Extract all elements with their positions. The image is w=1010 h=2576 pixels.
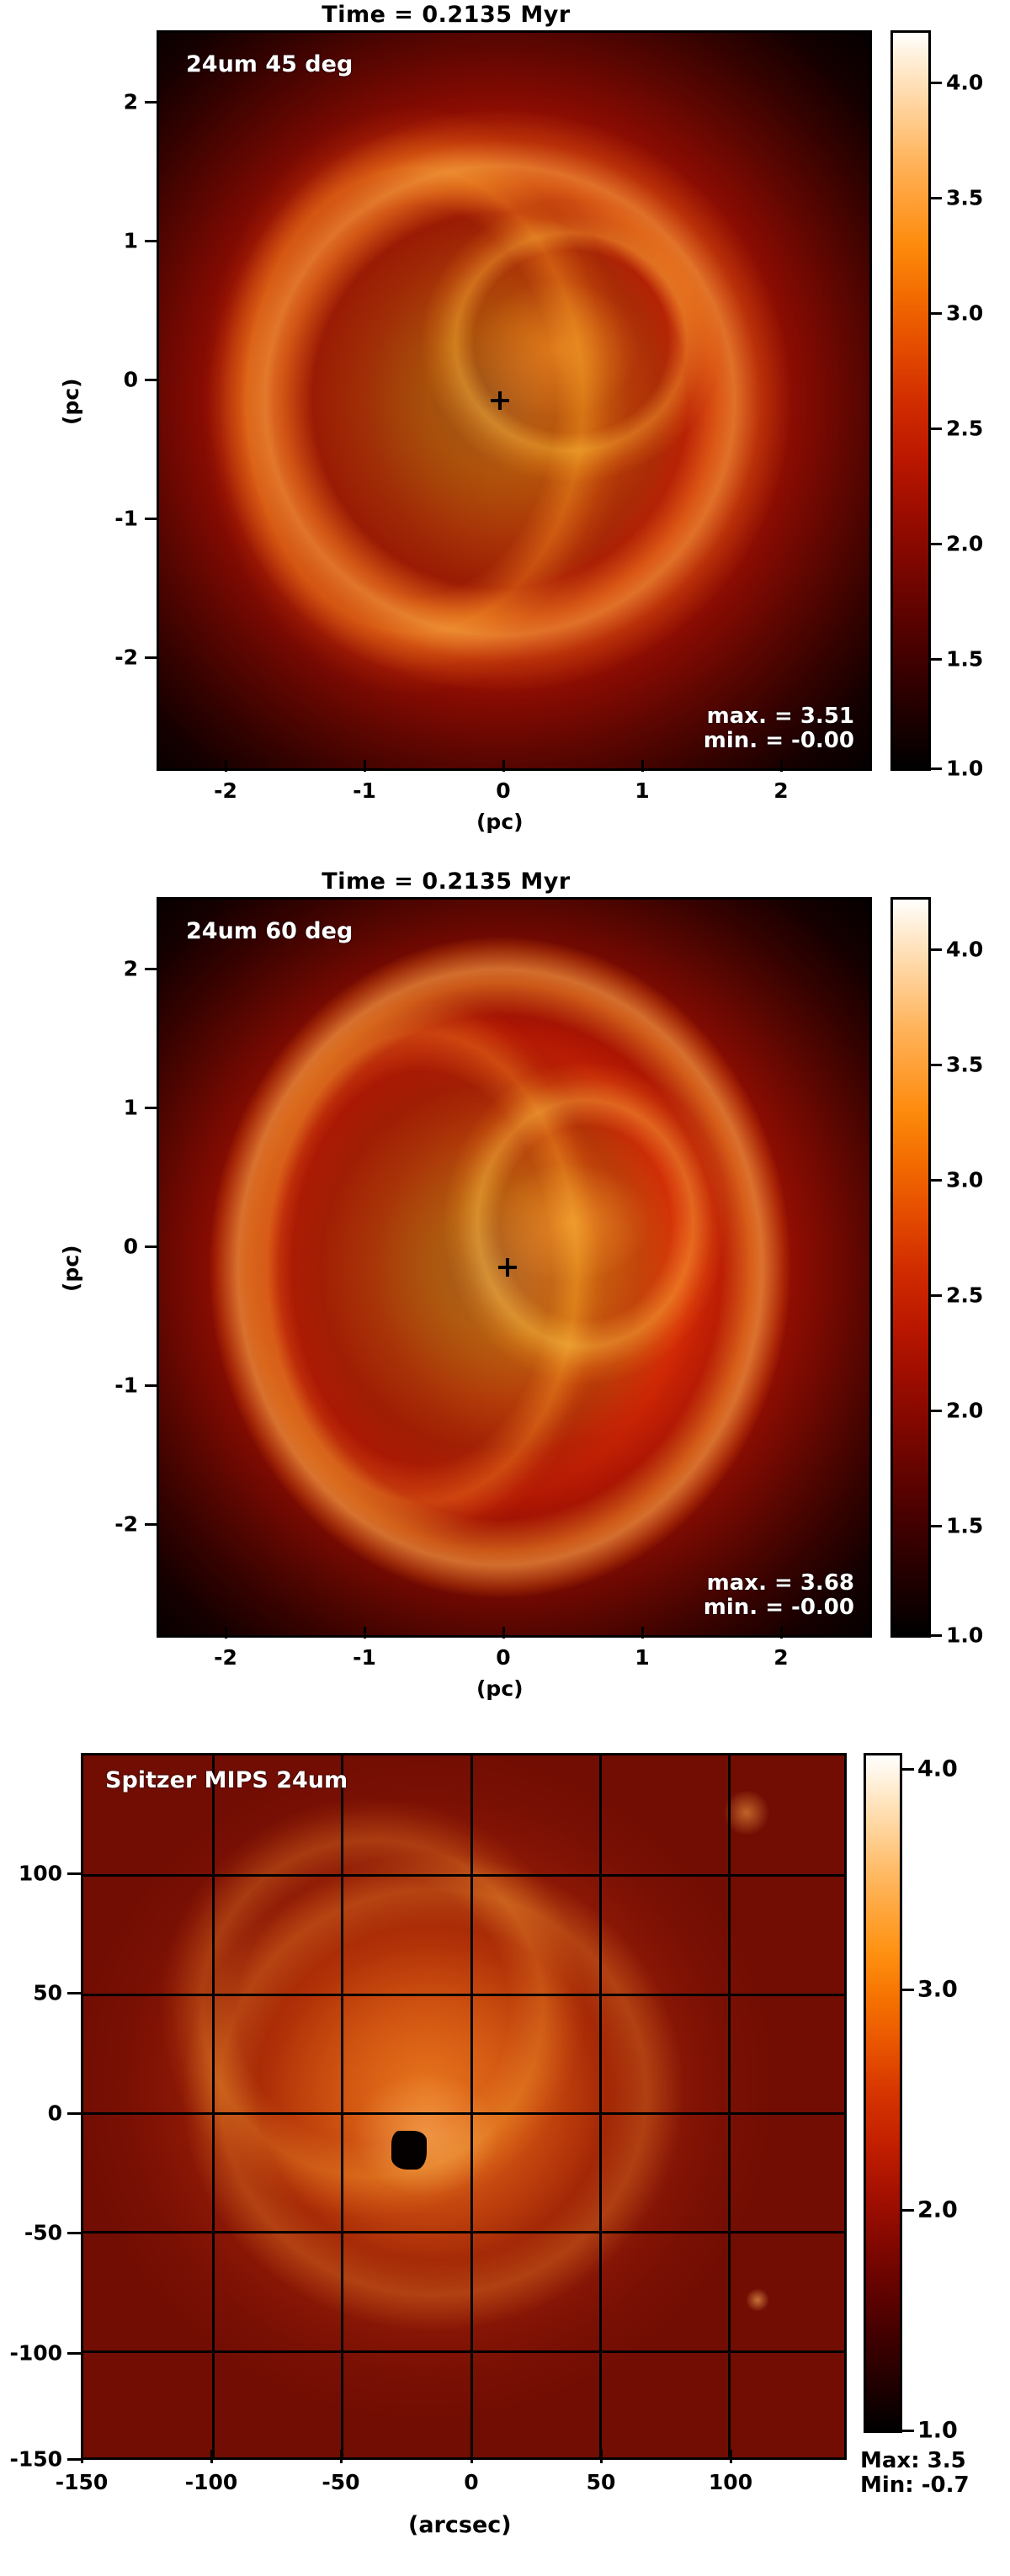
stat-max: Max: 3.5 bbox=[860, 2449, 970, 2473]
corner-label-45deg: 24um 45 deg bbox=[186, 51, 353, 77]
xtick-label: -1 bbox=[353, 1645, 376, 1670]
grid-line-horizontal bbox=[83, 1994, 844, 1996]
colorbar-45deg bbox=[890, 30, 931, 771]
xtick-label: 100 bbox=[709, 2470, 752, 2494]
xtick-label: 50 bbox=[587, 2470, 616, 2494]
xtick-label: -1 bbox=[353, 778, 376, 803]
cbar-tick-label: 2.0 bbox=[946, 1399, 983, 1423]
plus-marker bbox=[498, 1258, 517, 1277]
grid-line-horizontal bbox=[83, 1874, 844, 1877]
xaxis-title: (pc) bbox=[476, 810, 524, 834]
saturated-core bbox=[391, 2131, 427, 2170]
shell-arc-left bbox=[159, 33, 869, 768]
panel-45deg: Time = 0.2135 Myr 24um 45 deg max. = 3.5… bbox=[0, 0, 1010, 842]
ytick-label: 0 bbox=[99, 368, 138, 392]
colorbar-60deg bbox=[890, 897, 931, 1638]
corner-label-spitzer: Spitzer MIPS 24um bbox=[105, 1767, 348, 1793]
xtick-label: 2 bbox=[773, 778, 788, 803]
xtick-label: -2 bbox=[214, 1645, 237, 1670]
cbar-tick-label: 4.0 bbox=[946, 71, 983, 95]
ytick-label: -1 bbox=[99, 507, 138, 531]
cbar-tick-label: 3.5 bbox=[946, 186, 983, 210]
ytick-label: 2 bbox=[99, 90, 138, 114]
colorbar-gradient bbox=[893, 33, 928, 768]
ytick-label: 1 bbox=[99, 1096, 138, 1120]
yaxis-title: (pc) bbox=[59, 1245, 83, 1292]
cbar-tick-label: 3.5 bbox=[946, 1053, 983, 1077]
image-plot-spitzer: Spitzer MIPS 24um bbox=[81, 1753, 847, 2460]
stat-max: max. = 3.68 bbox=[704, 1571, 854, 1596]
cbar-tick-label: 2.5 bbox=[946, 417, 983, 441]
stat-max: max. = 3.51 bbox=[704, 704, 854, 729]
cbar-tick-label: 4.0 bbox=[946, 937, 983, 962]
ytick-label: -100 bbox=[0, 2341, 62, 2366]
colorbar-gradient bbox=[866, 1755, 900, 2430]
cbar-tick-label: 3.0 bbox=[917, 1977, 958, 2003]
xtick-label: -50 bbox=[322, 2470, 359, 2494]
corner-label-60deg: 24um 60 deg bbox=[186, 918, 353, 944]
grid-line-horizontal bbox=[83, 2350, 844, 2353]
stats-60deg: max. = 3.68 min. = -0.00 bbox=[704, 1571, 854, 1620]
panel-60deg: Time = 0.2135 Myr 24um 60 deg max. = 3.6… bbox=[0, 867, 1010, 1708]
figure-root: Time = 0.2135 Myr 24um 45 deg max. = 3.5… bbox=[0, 0, 1010, 2576]
cbar-tick-label: 1.5 bbox=[946, 1514, 983, 1538]
colorbar-gradient bbox=[893, 900, 928, 1635]
image-plot-60deg: 24um 60 deg max. = 3.68 min. = -0.00 bbox=[157, 897, 872, 1638]
stat-min: min. = -0.00 bbox=[704, 1596, 854, 1620]
colorbar-spitzer bbox=[864, 1753, 902, 2433]
xtick-label: 0 bbox=[496, 778, 510, 803]
panel-spitzer: Spitzer MIPS 24um -150 -100 -50 0 50 100… bbox=[0, 1729, 1010, 2576]
ytick-label: 0 bbox=[0, 2101, 62, 2126]
xtick-label: 2 bbox=[773, 1645, 788, 1670]
ytick-label: -2 bbox=[99, 645, 138, 670]
ytick-label: 2 bbox=[99, 957, 138, 981]
cbar-tick-label: 1.5 bbox=[946, 647, 983, 672]
stats-45deg: max. = 3.51 min. = -0.00 bbox=[704, 704, 854, 753]
yaxis-title: (pc) bbox=[59, 378, 83, 425]
xtick-label: 0 bbox=[496, 1645, 510, 1670]
xtick-label: -100 bbox=[185, 2470, 238, 2494]
ytick-label: 0 bbox=[99, 1235, 138, 1259]
cbar-tick-label: 2.0 bbox=[946, 532, 983, 556]
ytick-label: -2 bbox=[99, 1512, 138, 1537]
xtick-label: 1 bbox=[635, 1645, 649, 1670]
ytick-label: 100 bbox=[0, 1862, 62, 1886]
cbar-tick-label: 1.0 bbox=[946, 757, 983, 781]
cbar-tick-label: 3.0 bbox=[946, 301, 983, 326]
xtick-label: -150 bbox=[56, 2470, 109, 2494]
xtick-label: -2 bbox=[214, 778, 237, 803]
xaxis-title: (arcsec) bbox=[408, 2512, 512, 2538]
stat-min: min. = -0.00 bbox=[704, 729, 854, 753]
xtick-label: 1 bbox=[635, 778, 649, 803]
grid-line-horizontal bbox=[83, 2112, 844, 2115]
ytick-label: -50 bbox=[0, 2221, 62, 2245]
cbar-tick-label: 2.5 bbox=[946, 1283, 983, 1308]
stats-spitzer: Max: 3.5 Min: -0.7 bbox=[860, 2449, 970, 2498]
grid-line-horizontal bbox=[83, 2231, 844, 2233]
xtick-label: 0 bbox=[464, 2470, 478, 2494]
plus-marker bbox=[491, 391, 509, 410]
cbar-tick-label: 4.0 bbox=[917, 1756, 958, 1782]
panel-title: Time = 0.2135 Myr bbox=[0, 868, 892, 895]
cbar-tick-label: 1.0 bbox=[946, 1623, 983, 1648]
panel-title: Time = 0.2135 Myr bbox=[0, 2, 892, 28]
ytick-label: -1 bbox=[99, 1373, 138, 1398]
ytick-label: 1 bbox=[99, 229, 138, 253]
cbar-tick-label: 1.0 bbox=[917, 2418, 958, 2444]
ytick-label: 50 bbox=[0, 1981, 62, 2005]
cbar-tick-label: 3.0 bbox=[946, 1168, 983, 1192]
ytick-label: -150 bbox=[0, 2447, 62, 2472]
image-plot-45deg: 24um 45 deg max. = 3.51 min. = -0.00 bbox=[157, 30, 872, 771]
stat-min: Min: -0.7 bbox=[860, 2473, 970, 2498]
cbar-tick-label: 2.0 bbox=[917, 2197, 958, 2223]
xaxis-title: (pc) bbox=[476, 1676, 524, 1701]
